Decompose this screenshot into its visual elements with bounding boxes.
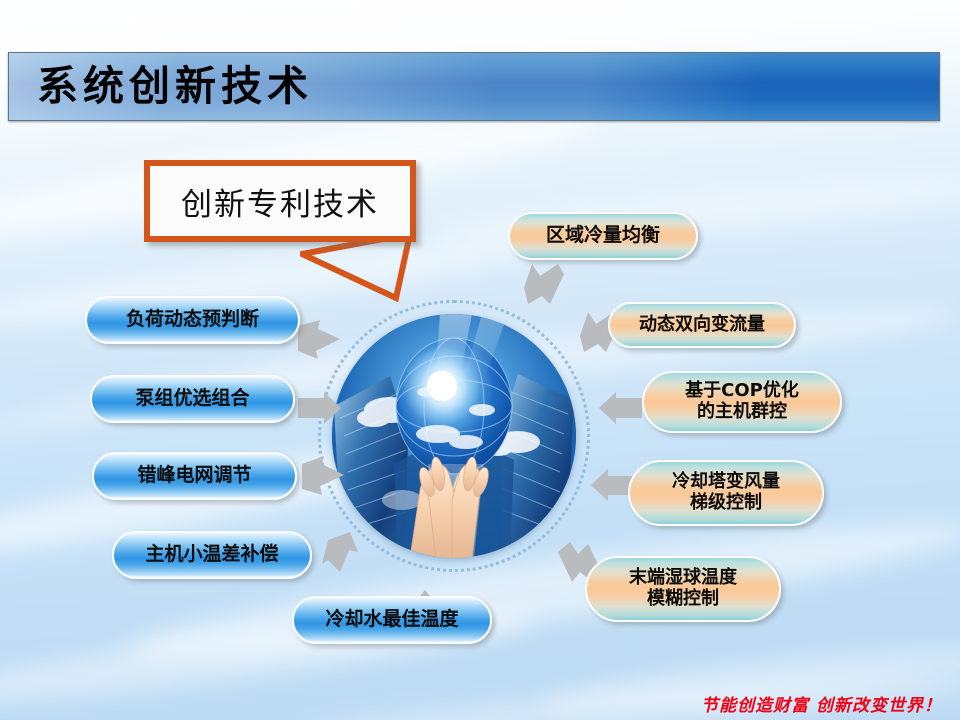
page-title: 系统创新技术 bbox=[37, 66, 313, 107]
node-peak-shaving-grid-regulation[interactable]: 错峰电网调节 bbox=[92, 452, 297, 500]
callout-tail-icon bbox=[300, 232, 430, 302]
inward-arrow-icon bbox=[320, 530, 360, 574]
node-label: 泵组优选组合 bbox=[135, 388, 249, 410]
title-banner: 系统创新技术 bbox=[8, 52, 940, 121]
inward-arrow-icon bbox=[296, 392, 342, 424]
node-regional-cooling-balance[interactable]: 区域冷量均衡 bbox=[508, 212, 698, 260]
footer-slogan: 节能创造财富 创新改变世界！ bbox=[701, 691, 942, 716]
node-label: 错峰电网调节 bbox=[137, 465, 251, 487]
inward-arrow-icon bbox=[296, 318, 342, 360]
node-cooling-tower-variable-airflow-staged-control[interactable]: 冷却塔变风量 梯级控制 bbox=[628, 460, 824, 526]
node-label: 末端湿球温度 模糊控制 bbox=[629, 568, 737, 609]
callout-box[interactable]: 创新专利技术 bbox=[144, 160, 416, 242]
node-label: 冷却塔变风量 梯级控制 bbox=[672, 472, 780, 513]
node-label: 主机小温差补偿 bbox=[145, 544, 278, 566]
hands-holding-globe-photo bbox=[332, 314, 576, 558]
node-label: 负荷动态预判断 bbox=[126, 309, 259, 331]
node-label: 区域冷量均衡 bbox=[546, 225, 660, 247]
inward-arrow-icon bbox=[300, 455, 346, 497]
inward-arrow-icon bbox=[598, 392, 644, 424]
node-chiller-small-temp-diff-compensation[interactable]: 主机小温差补偿 bbox=[112, 531, 312, 579]
slide-canvas: 系统创新技术 创新专利技术 bbox=[0, 0, 960, 720]
node-label: 基于COP优化 的主机群控 bbox=[685, 381, 799, 422]
node-cop-based-chiller-plant-control[interactable]: 基于COP优化 的主机群控 bbox=[642, 371, 842, 433]
node-load-dynamic-prediction[interactable]: 负荷动态预判断 bbox=[85, 296, 300, 344]
node-pump-group-optimal-combination[interactable]: 泵组优选组合 bbox=[90, 375, 295, 423]
node-label: 动态双向变流量 bbox=[639, 315, 765, 336]
inward-arrow-icon bbox=[522, 262, 566, 306]
node-dynamic-bidirectional-variable-flow[interactable]: 动态双向变流量 bbox=[608, 302, 796, 348]
callout-label: 创新专利技术 bbox=[181, 179, 379, 224]
node-label: 冷却水最佳温度 bbox=[325, 609, 458, 631]
node-terminal-wet-bulb-fuzzy-control[interactable]: 末端湿球温度 模糊控制 bbox=[585, 556, 781, 622]
node-cooling-water-optimal-temperature[interactable]: 冷却水最佳温度 bbox=[292, 596, 492, 644]
